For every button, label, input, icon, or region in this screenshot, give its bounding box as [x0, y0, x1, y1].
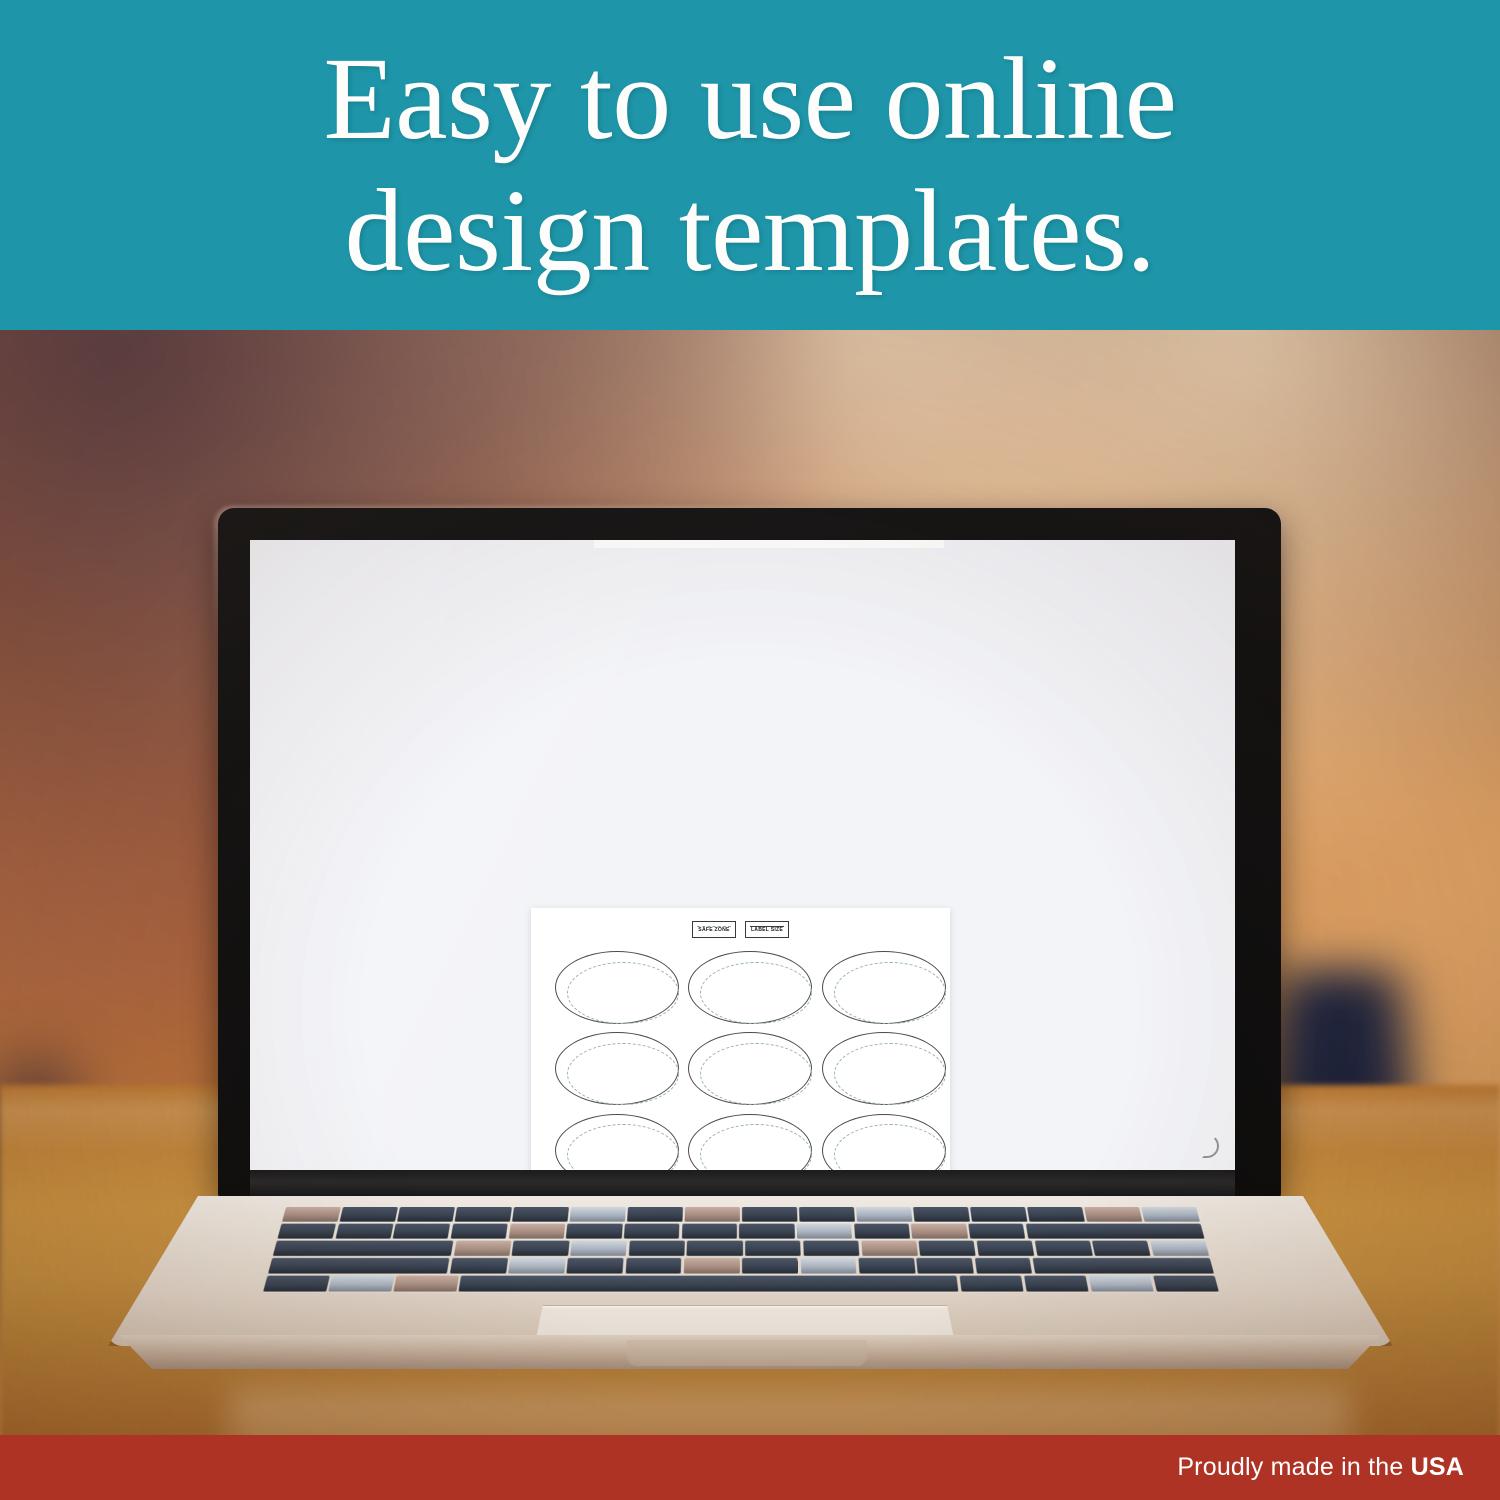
keyboard-key[interactable]: [1024, 1276, 1089, 1292]
keyboard-key[interactable]: [858, 1258, 915, 1274]
keyboard-key[interactable]: [567, 1258, 624, 1274]
keyboard-key[interactable]: [566, 1224, 622, 1239]
keyboard-key[interactable]: [1032, 1258, 1214, 1274]
keyboard-row: [273, 1241, 1209, 1256]
label-cell[interactable]: [683, 1028, 816, 1109]
label-outline-oval: [688, 1032, 812, 1105]
keyboard-key[interactable]: [1092, 1241, 1151, 1256]
laptop-hinge: [250, 1170, 1235, 1200]
keyboard-key[interactable]: [393, 1276, 458, 1292]
keyboard-key[interactable]: [454, 1241, 512, 1256]
photo-scene: SAFE ZONE LABEL SIZE ***PLEASE READ INST…: [0, 330, 1500, 1500]
keyboard-key[interactable]: [263, 1276, 329, 1292]
label-cell[interactable]: [817, 1110, 950, 1170]
label-outline-oval: [822, 1114, 946, 1170]
legend-label-label-size: LABEL SIZE: [751, 928, 783, 933]
keyboard-key[interactable]: [512, 1207, 569, 1222]
keyboard-key[interactable]: [397, 1207, 455, 1222]
keyboard-key[interactable]: [685, 1207, 740, 1222]
keyboard-row: [268, 1258, 1214, 1274]
safe-zone-oval: [567, 1124, 679, 1170]
keyboard-key[interactable]: [976, 1241, 1034, 1256]
keyboard-key[interactable]: [458, 1276, 958, 1292]
keyboard-key[interactable]: [1034, 1241, 1092, 1256]
keyboard-key[interactable]: [742, 1207, 797, 1222]
keyboard-key[interactable]: [393, 1224, 451, 1239]
keyboard-key[interactable]: [627, 1207, 683, 1222]
keyboard-key[interactable]: [282, 1207, 340, 1222]
keyboard-key[interactable]: [1153, 1276, 1219, 1292]
keyboard-key[interactable]: [682, 1224, 737, 1239]
safe-zone-oval: [700, 962, 812, 1024]
keyboard-key[interactable]: [1088, 1276, 1154, 1292]
legend-label-safe-zone: SAFE ZONE: [698, 928, 729, 933]
safe-zone-oval: [700, 1043, 812, 1105]
keyboard-key[interactable]: [742, 1258, 798, 1274]
keyboard-key[interactable]: [919, 1241, 976, 1256]
keyboard-key[interactable]: [629, 1241, 685, 1256]
label-sheet-document[interactable]: SAFE ZONE LABEL SIZE ***PLEASE READ INST…: [531, 908, 950, 1170]
keyboard-key[interactable]: [911, 1224, 968, 1239]
keyboard-key[interactable]: [328, 1276, 394, 1292]
headline-text: Easy to use online design templates.: [160, 33, 1340, 297]
keyboard-key[interactable]: [739, 1224, 794, 1239]
keyboard-key[interactable]: [1150, 1241, 1209, 1256]
label-outline-oval: [555, 1032, 679, 1105]
keyboard-key[interactable]: [1027, 1207, 1085, 1222]
safe-zone-oval: [834, 962, 946, 1024]
keyboard-key[interactable]: [913, 1207, 970, 1222]
keyboard-key[interactable]: [335, 1224, 393, 1239]
keyboard-key[interactable]: [1025, 1224, 1204, 1239]
keyboard-key[interactable]: [508, 1224, 565, 1239]
footer-banner: Proudly made in the USA: [0, 1435, 1500, 1500]
label-cell[interactable]: [817, 947, 950, 1028]
label-cell[interactable]: [683, 1110, 816, 1170]
keyboard-row: [263, 1276, 1219, 1292]
keyboard-key[interactable]: [624, 1224, 680, 1239]
keyboard-key[interactable]: [570, 1241, 627, 1256]
keyboard-key[interactable]: [570, 1207, 626, 1222]
keyboard-row: [277, 1224, 1204, 1239]
keyboard-key[interactable]: [800, 1258, 856, 1274]
app-toolbar-strip: [594, 540, 944, 548]
label-outline-oval: [688, 1114, 812, 1170]
keyboard-key[interactable]: [455, 1207, 512, 1222]
keyboard-key[interactable]: [797, 1224, 853, 1239]
keyboard-key[interactable]: [968, 1224, 1025, 1239]
label-cell[interactable]: [550, 1028, 683, 1109]
label-cell[interactable]: [817, 1028, 950, 1109]
keyboard-key[interactable]: [959, 1276, 1023, 1292]
keyboard-key[interactable]: [856, 1207, 912, 1222]
safe-zone-oval: [700, 1124, 812, 1170]
keyboard-key[interactable]: [1141, 1207, 1199, 1222]
label-outline-oval: [688, 951, 812, 1024]
label-outline-oval: [555, 951, 679, 1024]
safe-zone-oval: [567, 1043, 679, 1105]
label-grid: [550, 947, 950, 1170]
keyboard-key[interactable]: [268, 1258, 450, 1274]
keyboard-key[interactable]: [340, 1207, 398, 1222]
laptop-base-notch: [627, 1340, 867, 1366]
keyboard-key[interactable]: [450, 1258, 508, 1274]
promo-image: Easy to use online design templates.: [0, 0, 1500, 1500]
legend-item-safe-zone: SAFE ZONE: [692, 921, 736, 938]
footer-text-usa: USA: [1411, 1453, 1464, 1481]
keyboard-key[interactable]: [625, 1258, 681, 1274]
keyboard-key[interactable]: [1084, 1207, 1142, 1222]
keyboard-row: [282, 1207, 1200, 1222]
safe-zone-oval: [834, 1043, 946, 1105]
laptop-screen[interactable]: SAFE ZONE LABEL SIZE ***PLEASE READ INST…: [250, 540, 1235, 1170]
keyboard-key[interactable]: [861, 1241, 918, 1256]
footer-text-prefix: Proudly made in the: [1177, 1453, 1410, 1481]
keyboard-key[interactable]: [451, 1224, 508, 1239]
label-outline-oval: [822, 1032, 946, 1105]
legend-item-label-size: LABEL SIZE: [745, 921, 789, 938]
footer-text: Proudly made in the USA: [1177, 1453, 1500, 1482]
keyboard-key[interactable]: [512, 1241, 569, 1256]
header-banner: Easy to use online design templates.: [0, 0, 1500, 330]
keyboard-key[interactable]: [916, 1258, 974, 1274]
keyboard-key[interactable]: [508, 1258, 566, 1274]
keyboard-key[interactable]: [970, 1207, 1027, 1222]
keyboard-key[interactable]: [854, 1224, 910, 1239]
label-outline-oval: [555, 1114, 679, 1170]
keyboard-key[interactable]: [277, 1224, 336, 1239]
laptop-keyboard[interactable]: [261, 1207, 1221, 1299]
keyboard-key[interactable]: [799, 1207, 855, 1222]
page-corner-arc-icon: [1202, 1134, 1219, 1158]
keyboard-key[interactable]: [687, 1241, 743, 1256]
label-row: [550, 1028, 950, 1109]
label-row: [550, 947, 950, 1028]
label-cell[interactable]: [550, 1110, 683, 1170]
laptop: SAFE ZONE LABEL SIZE ***PLEASE READ INST…: [0, 330, 1500, 1500]
keyboard-key[interactable]: [974, 1258, 1032, 1274]
safe-zone-oval: [567, 962, 679, 1024]
legend: SAFE ZONE LABEL SIZE: [531, 921, 950, 938]
safe-zone-oval: [834, 1124, 946, 1170]
label-row: [550, 1110, 950, 1170]
label-outline-oval: [822, 951, 946, 1024]
keyboard-key[interactable]: [803, 1241, 859, 1256]
keyboard-key[interactable]: [745, 1241, 801, 1256]
label-cell[interactable]: [683, 947, 816, 1028]
keyboard-key[interactable]: [273, 1241, 454, 1256]
keyboard-key[interactable]: [684, 1258, 740, 1274]
label-cell[interactable]: [550, 947, 683, 1028]
